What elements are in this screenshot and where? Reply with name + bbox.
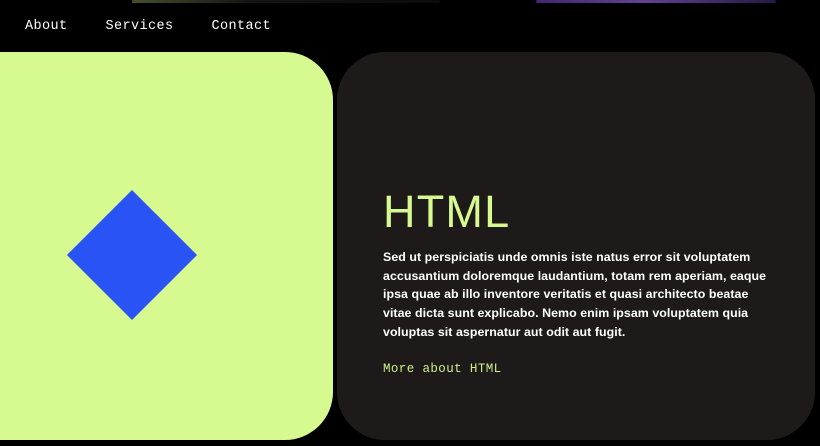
card-title: HTML xyxy=(383,189,769,234)
visual-card xyxy=(0,52,333,440)
blue-diamond-shape xyxy=(66,190,196,320)
content-card: HTML Sed ut perspiciatis unde omnis iste… xyxy=(337,52,815,440)
more-about-html-link[interactable]: More about HTML xyxy=(383,362,502,376)
nav-item-services[interactable]: Services xyxy=(106,19,174,34)
card-body-text: Sed ut perspiciatis unde omnis iste natu… xyxy=(383,248,769,342)
nav-item-contact[interactable]: Contact xyxy=(212,19,272,34)
nav-item-about[interactable]: About xyxy=(25,19,68,34)
top-navigation: About Services Contact xyxy=(0,0,820,52)
cards-container: HTML Sed ut perspiciatis unde omnis iste… xyxy=(0,52,820,440)
